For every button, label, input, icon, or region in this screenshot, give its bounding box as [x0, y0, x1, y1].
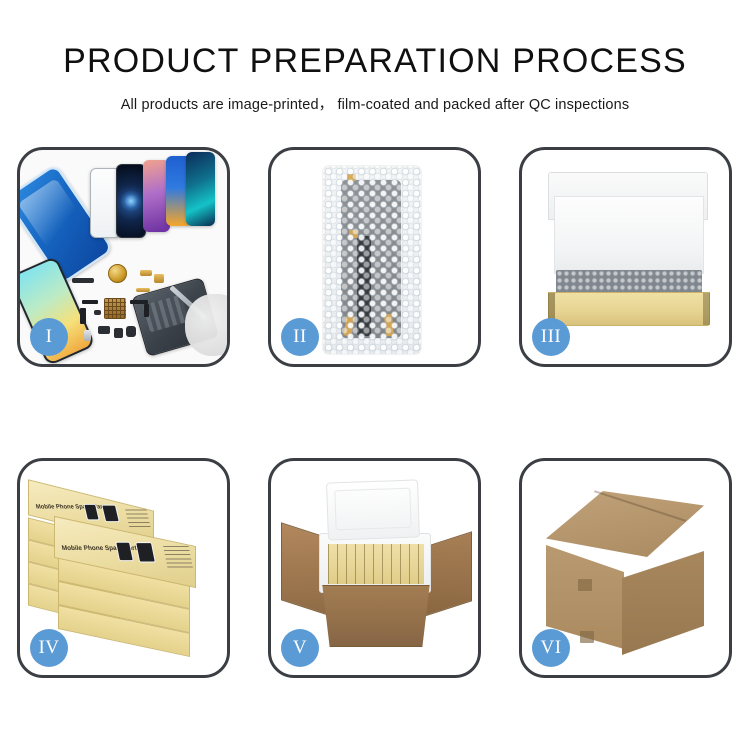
- sim-tray-part: [84, 330, 91, 341]
- flex-cable-part-1: [82, 300, 98, 304]
- flex-cable-part-2: [80, 308, 86, 324]
- header: PRODUCT PREPARATION PROCESS All products…: [0, 0, 750, 114]
- dark-swirl-phone: [116, 164, 146, 238]
- carton-tape-lower: [580, 631, 594, 643]
- flex-cable-part-4: [144, 304, 149, 317]
- lid-thumbnail-front-2: [135, 542, 156, 562]
- bubble-wrap-bag: [323, 166, 421, 354]
- step-badge-1: I: [30, 318, 68, 356]
- panel-step-1[interactable]: I: [17, 147, 230, 367]
- lid-label-back: Mobile Phone Spare Parts: [35, 504, 108, 510]
- lid-spec-lines-front: [163, 546, 193, 567]
- camera-module-part: [94, 310, 101, 315]
- page-root: PRODUCT PREPARATION PROCESS All products…: [0, 0, 750, 750]
- gold-bracket-part: [154, 274, 164, 283]
- foam-sheet: [554, 196, 704, 274]
- step-badge-5: V: [281, 629, 319, 667]
- connector-strip-part: [72, 278, 94, 283]
- panel-step-4[interactable]: Mobile Phone Spare Parts Mobile Phon: [17, 458, 230, 678]
- ic-chip-part-2: [114, 328, 123, 338]
- lid-thumbnail-back-2: [101, 505, 120, 523]
- carton-tape-upper: [578, 579, 592, 591]
- gold-contact-part: [140, 270, 152, 276]
- panel-step-6[interactable]: VI: [519, 458, 732, 678]
- foam-lid: [326, 479, 420, 540]
- carton-right-face: [622, 551, 704, 655]
- packed-yellow-boxes: [328, 544, 424, 584]
- process-grid: I II: [17, 147, 733, 678]
- foam-insert: [319, 533, 431, 593]
- carton-body: [315, 585, 437, 647]
- ic-chip-part-1: [98, 326, 110, 334]
- vibration-motor-part: [108, 264, 127, 283]
- teal-swirl-phone: [186, 152, 215, 226]
- panel-step-5[interactable]: V: [268, 458, 481, 678]
- gold-flex-part: [136, 288, 150, 292]
- carton-flap-right: [424, 531, 472, 617]
- page-subtitle: All products are image-printed， film-coa…: [0, 93, 750, 114]
- speaker-part: [126, 326, 136, 337]
- page-title: PRODUCT PREPARATION PROCESS: [0, 42, 750, 81]
- bubble-texture-back: [323, 166, 421, 354]
- yellow-inner-box-base: [548, 292, 710, 326]
- panel-step-2[interactable]: II: [268, 147, 481, 367]
- step-badge-2: II: [281, 318, 319, 356]
- lid-spec-lines-back: [125, 509, 151, 528]
- step-badge-4: IV: [30, 629, 68, 667]
- step-badge-3: III: [532, 318, 570, 356]
- mesh-grid-part: [104, 298, 126, 319]
- panel-step-3[interactable]: III: [519, 147, 732, 367]
- hand-illustration: [185, 294, 227, 356]
- step-badge-6: VI: [532, 629, 570, 667]
